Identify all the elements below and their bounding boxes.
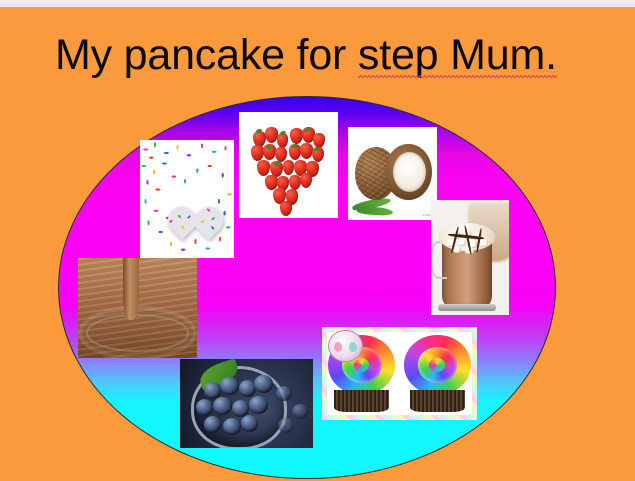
strawberry: [313, 133, 325, 148]
logo-detail: [334, 342, 342, 352]
blueberry: [249, 396, 268, 414]
title-text-misspelled: step Mum: [358, 31, 545, 79]
blueberry: [196, 399, 213, 416]
coconut-photo[interactable]: 123RF: [348, 127, 437, 220]
window-top-strip: [0, 0, 635, 7]
strawberry-background: [239, 112, 338, 218]
strawberry: [300, 173, 312, 188]
blueberry: [278, 418, 294, 433]
logo-detail: [349, 342, 357, 352]
coconut-leaf: [357, 206, 393, 217]
mug-base: [438, 304, 496, 311]
title-text-misspelled-wrapper: step Mum.: [358, 30, 557, 80]
cupcake-right: [404, 335, 471, 411]
coconut-background: 123RF: [348, 127, 437, 220]
blueberries-background: [180, 359, 313, 448]
strawberry: [265, 127, 278, 143]
strawberry: [257, 160, 270, 176]
title-text-plain: My pancake for: [55, 31, 358, 79]
blueberry: [204, 416, 221, 433]
chocolate-splash: [114, 310, 169, 336]
page-title[interactable]: My pancake for step Mum.: [55, 30, 557, 80]
hot-chocolate-background: [431, 200, 509, 315]
strawberry: [251, 145, 264, 161]
melted-chocolate-photo[interactable]: [78, 258, 197, 358]
coconut-half: [385, 144, 431, 200]
title-text-period: .: [545, 31, 557, 79]
strawberry: [275, 147, 287, 162]
blueberry: [239, 380, 256, 397]
blueberry: [213, 397, 232, 415]
blueberry: [220, 377, 239, 395]
strawberry-heart-photo[interactable]: [239, 112, 338, 218]
marshmallow: [458, 238, 467, 246]
blueberry: [292, 404, 308, 419]
blueberries-photo[interactable]: [180, 359, 313, 448]
blueberry: [254, 375, 273, 393]
blueberry: [223, 418, 242, 435]
rainbow-cupcakes-photo[interactable]: [322, 327, 477, 420]
marshmallow: [479, 239, 488, 247]
sprinkles-heart-photo[interactable]: [140, 140, 234, 258]
strawberry: [283, 160, 295, 175]
strawberry: [280, 201, 293, 216]
spellcheck-underline: [358, 75, 557, 78]
coconut-flesh: [393, 152, 426, 192]
cupcake-liner: [334, 390, 389, 411]
hot-chocolate-photo[interactable]: [431, 200, 509, 315]
mug-handle: [431, 241, 447, 279]
chocolate-pool: [78, 258, 197, 358]
slide-canvas: My pancake for step Mum.: [0, 0, 635, 481]
blueberry: [276, 386, 292, 401]
cupcake-liner: [410, 390, 465, 411]
cupcakes-background: [322, 327, 477, 420]
strawberry: [277, 133, 289, 148]
sprinkles-heart-shape: [174, 193, 217, 238]
slide-background[interactable]: My pancake for step Mum.: [0, 7, 635, 481]
rainbow-rose-frosting: [404, 335, 471, 394]
